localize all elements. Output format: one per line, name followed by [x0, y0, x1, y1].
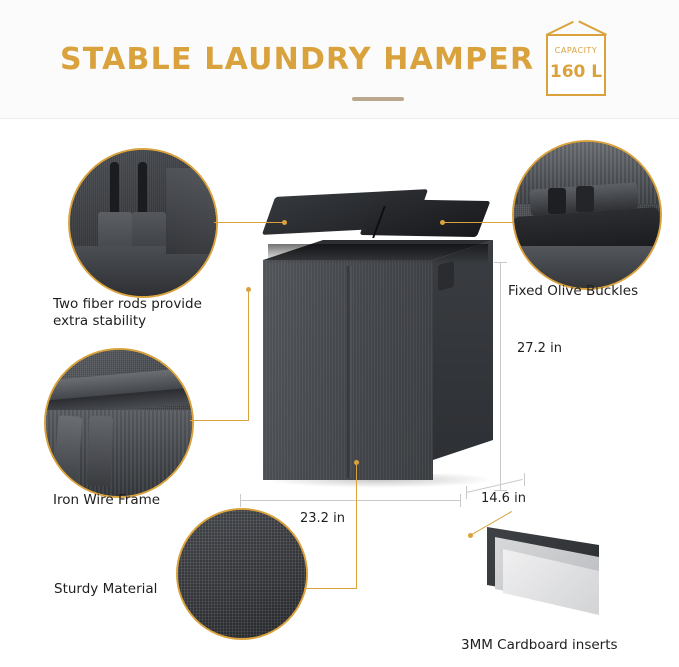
callout-circle-fiber-rods	[68, 148, 218, 298]
width-dimension-tick-right	[460, 494, 461, 507]
capacity-value: 160 L	[546, 62, 606, 82]
connector-iron-wire-frame-v	[248, 290, 249, 421]
connector-dot-cardboard-inserts	[468, 533, 473, 538]
page-title: STABLE LAUNDRY HAMPER	[60, 42, 534, 77]
width-dimension-line	[240, 500, 460, 501]
connector-dot-fiber-rods	[282, 220, 287, 225]
hamper-inner-shadow	[268, 244, 488, 264]
connector-sturdy-material-h	[304, 588, 356, 589]
fiber-rods-photo	[70, 150, 216, 296]
callout-circle-fixed-olive-buckles	[512, 140, 662, 290]
connector-dot-sturdy-material	[354, 460, 359, 465]
height-dimension-line	[500, 262, 501, 490]
callout-circle-sturdy-material	[176, 508, 308, 640]
connector-fixed-olive-buckles-h	[442, 222, 514, 223]
fixed-olive-buckles-photo	[514, 142, 660, 288]
capacity-label: CAPACITY	[546, 46, 606, 55]
laundry-hamper-illustration	[238, 188, 508, 498]
callout-label-cardboard-inserts: 3MM Cardboard inserts	[461, 637, 618, 654]
connector-dot-fixed-olive-buckles	[440, 220, 445, 225]
depth-dimension-label: 14.6 in	[481, 491, 526, 506]
width-dimension-label: 23.2 in	[300, 511, 345, 526]
callout-label-iron-wire-frame: Iron Wire Frame	[53, 492, 160, 509]
callout-label-sturdy-material: Sturdy Material	[54, 581, 157, 598]
connector-sturdy-material-v	[356, 463, 357, 589]
title-underline	[352, 97, 404, 101]
connector-fiber-rods-h	[214, 222, 284, 223]
width-dimension-tick-left	[240, 494, 241, 507]
iron-wire-frame-photo	[46, 350, 192, 496]
connector-dot-iron-wire-frame	[246, 287, 251, 292]
depth-dimension-tick-left	[466, 486, 467, 499]
connector-iron-wire-frame-h	[190, 420, 248, 421]
header-banner: STABLE LAUNDRY HAMPER CAPACITY 160 L	[0, 0, 679, 119]
callout-label-fiber-rods: Two fiber rods provide extra stability	[53, 296, 202, 330]
hamper-side-handle	[438, 261, 454, 291]
height-dimension-tick-top	[494, 262, 507, 263]
callout-circle-iron-wire-frame	[44, 348, 194, 498]
capacity-badge: CAPACITY 160 L	[546, 20, 608, 98]
cardboard-inserts-illustration	[487, 527, 599, 617]
hamper-center-divider	[347, 266, 352, 478]
height-dimension-label: 27.2 in	[517, 341, 562, 356]
callout-label-fixed-olive-buckles: Fixed Olive Buckles	[508, 283, 638, 300]
sturdy-material-photo	[178, 510, 306, 638]
depth-dimension-tick-right	[524, 473, 525, 486]
product-infographic: STABLE LAUNDRY HAMPER CAPACITY 160 L 27.…	[0, 0, 679, 667]
